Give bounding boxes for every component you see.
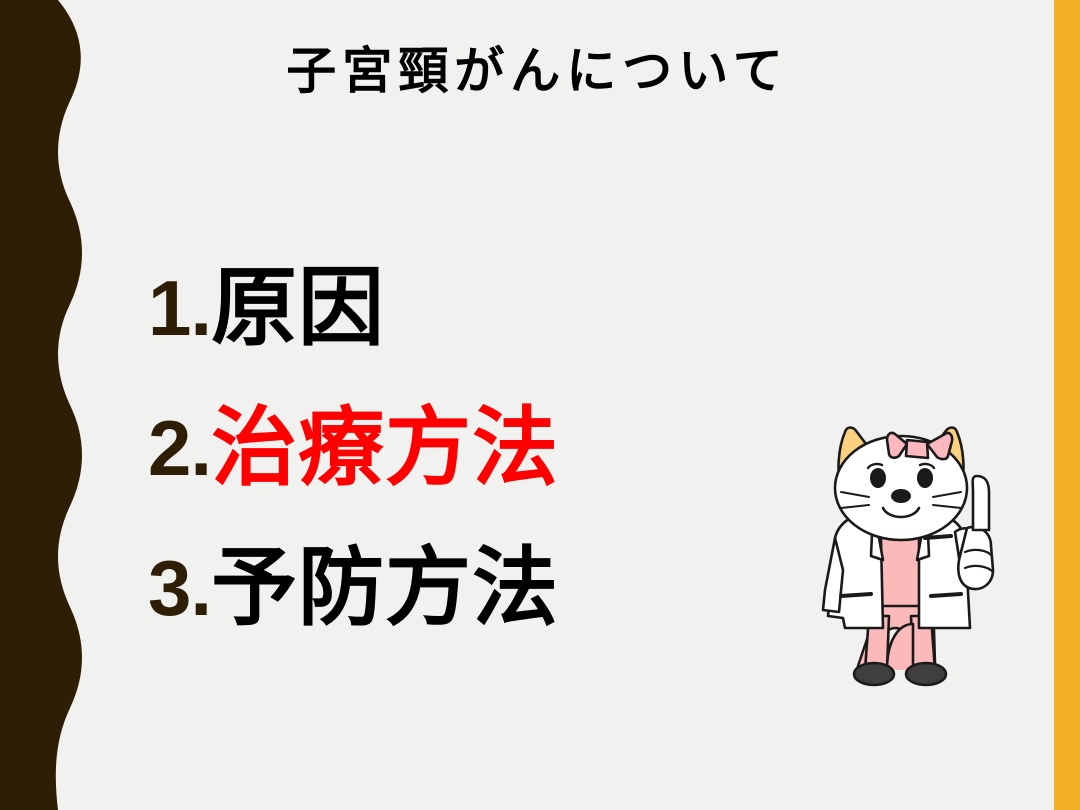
mascot-coat-pocket-left — [841, 594, 871, 596]
mascot-shoe-left — [854, 663, 894, 685]
page-title: 子宮頸がんについて — [120, 44, 955, 99]
mascot-index-finger — [973, 476, 989, 530]
agenda-label-3: 予防方法 — [211, 542, 559, 634]
agenda-item-2[interactable]: 2. 治療方法 — [148, 402, 848, 542]
agenda-item-3[interactable]: 3. 予防方法 — [148, 542, 848, 682]
mascot-crotch-arch — [887, 624, 913, 670]
slide-canvas: 子宮頸がんについて 1. 原因 2. 治療方法 3. 予防方法 — [0, 0, 1080, 810]
orange-accent-bar — [1054, 0, 1080, 810]
mascot-nose — [891, 489, 911, 503]
mascot-eye-left — [870, 468, 886, 488]
agenda-number-2: 2. — [148, 402, 211, 494]
mascot-shoe-right — [906, 663, 946, 685]
agenda-item-1[interactable]: 1. 原因 — [148, 262, 848, 402]
mascot-coat-pocket-right — [931, 594, 961, 596]
wavy-brown-band — [0, 0, 120, 810]
agenda-list: 1. 原因 2. 治療方法 3. 予防方法 — [148, 262, 848, 682]
agenda-label-2: 治療方法 — [211, 402, 559, 494]
mascot-bow-knot — [906, 440, 928, 458]
cat-doctor-mascot — [795, 420, 1015, 720]
agenda-number-3: 3. — [148, 542, 211, 634]
mascot-eye-right — [917, 468, 933, 488]
agenda-label-1: 原因 — [211, 262, 385, 354]
agenda-number-1: 1. — [148, 262, 211, 354]
